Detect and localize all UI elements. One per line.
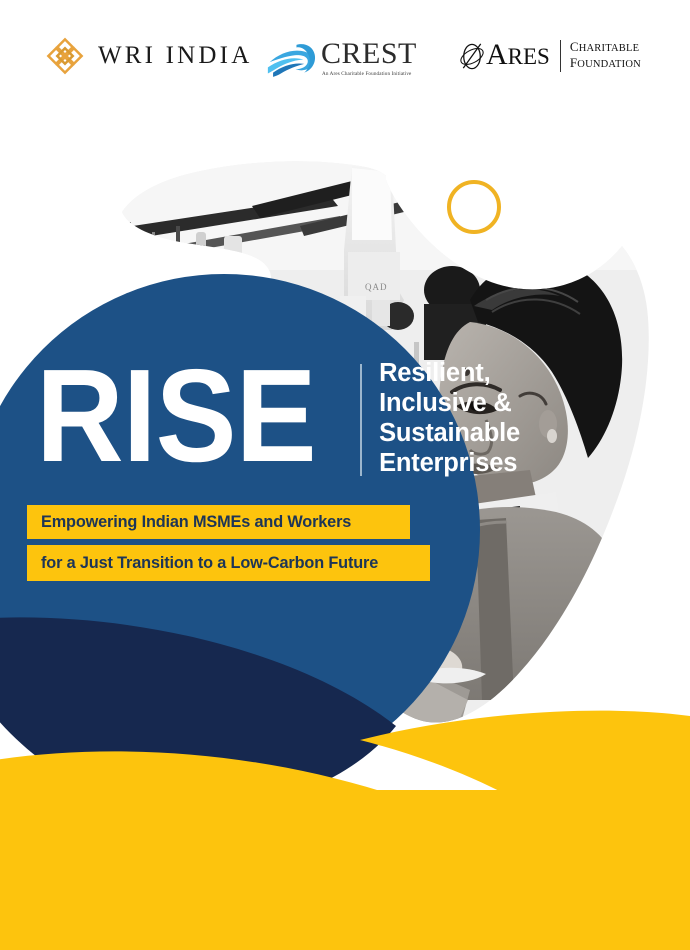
title-divider (360, 364, 362, 476)
subtitle-banner-1: Empowering Indian MSMEs and Workers (27, 505, 410, 539)
title-expansion-line-1: Resilient, (379, 358, 520, 388)
wri-diamond-lattice-icon (44, 35, 86, 77)
yellow-ring-outline (447, 180, 501, 234)
cover-title-block: RISE Resilient, Inclusive & Sustainable … (36, 358, 436, 478)
title-expansion: Resilient, Inclusive & Sustainable Enter… (379, 358, 520, 478)
crest-tagline: An Ares Charitable Foundation Initiative (322, 71, 417, 77)
title-expansion-line-3: Sustainable (379, 418, 520, 448)
bottom-yellow-base (0, 790, 690, 950)
ares-wordmark: ARES (486, 36, 550, 76)
crest-wordmark: CREST (321, 38, 417, 70)
wri-india-wordmark: WRI INDIA (98, 35, 252, 77)
logo-bar: WRI INDIA CREST An Ares Charitable Found… (0, 28, 690, 88)
ares-divider (560, 40, 561, 72)
logo-wri-india: WRI INDIA (44, 34, 252, 78)
ares-sub-charitable: CHARITABLE (570, 40, 641, 57)
subtitle-banner-2: for a Just Transition to a Low-Carbon Fu… (27, 545, 430, 581)
title-acronym: RISE (36, 360, 316, 472)
logo-crest: CREST An Ares Charitable Foundation Init… (267, 32, 417, 82)
title-expansion-line-2: Inclusive & (379, 388, 520, 418)
crest-wave-swirl-icon (267, 35, 319, 79)
report-cover: QAD (0, 0, 690, 950)
title-expansion-line-4: Enterprises (379, 448, 520, 478)
logo-ares-charitable-foundation: ARES CHARITABLE FOUNDATION (457, 34, 641, 78)
svg-text:QAD: QAD (365, 282, 388, 292)
ares-sub-foundation: FOUNDATION (570, 56, 641, 73)
ares-orbit-icon (457, 39, 487, 73)
